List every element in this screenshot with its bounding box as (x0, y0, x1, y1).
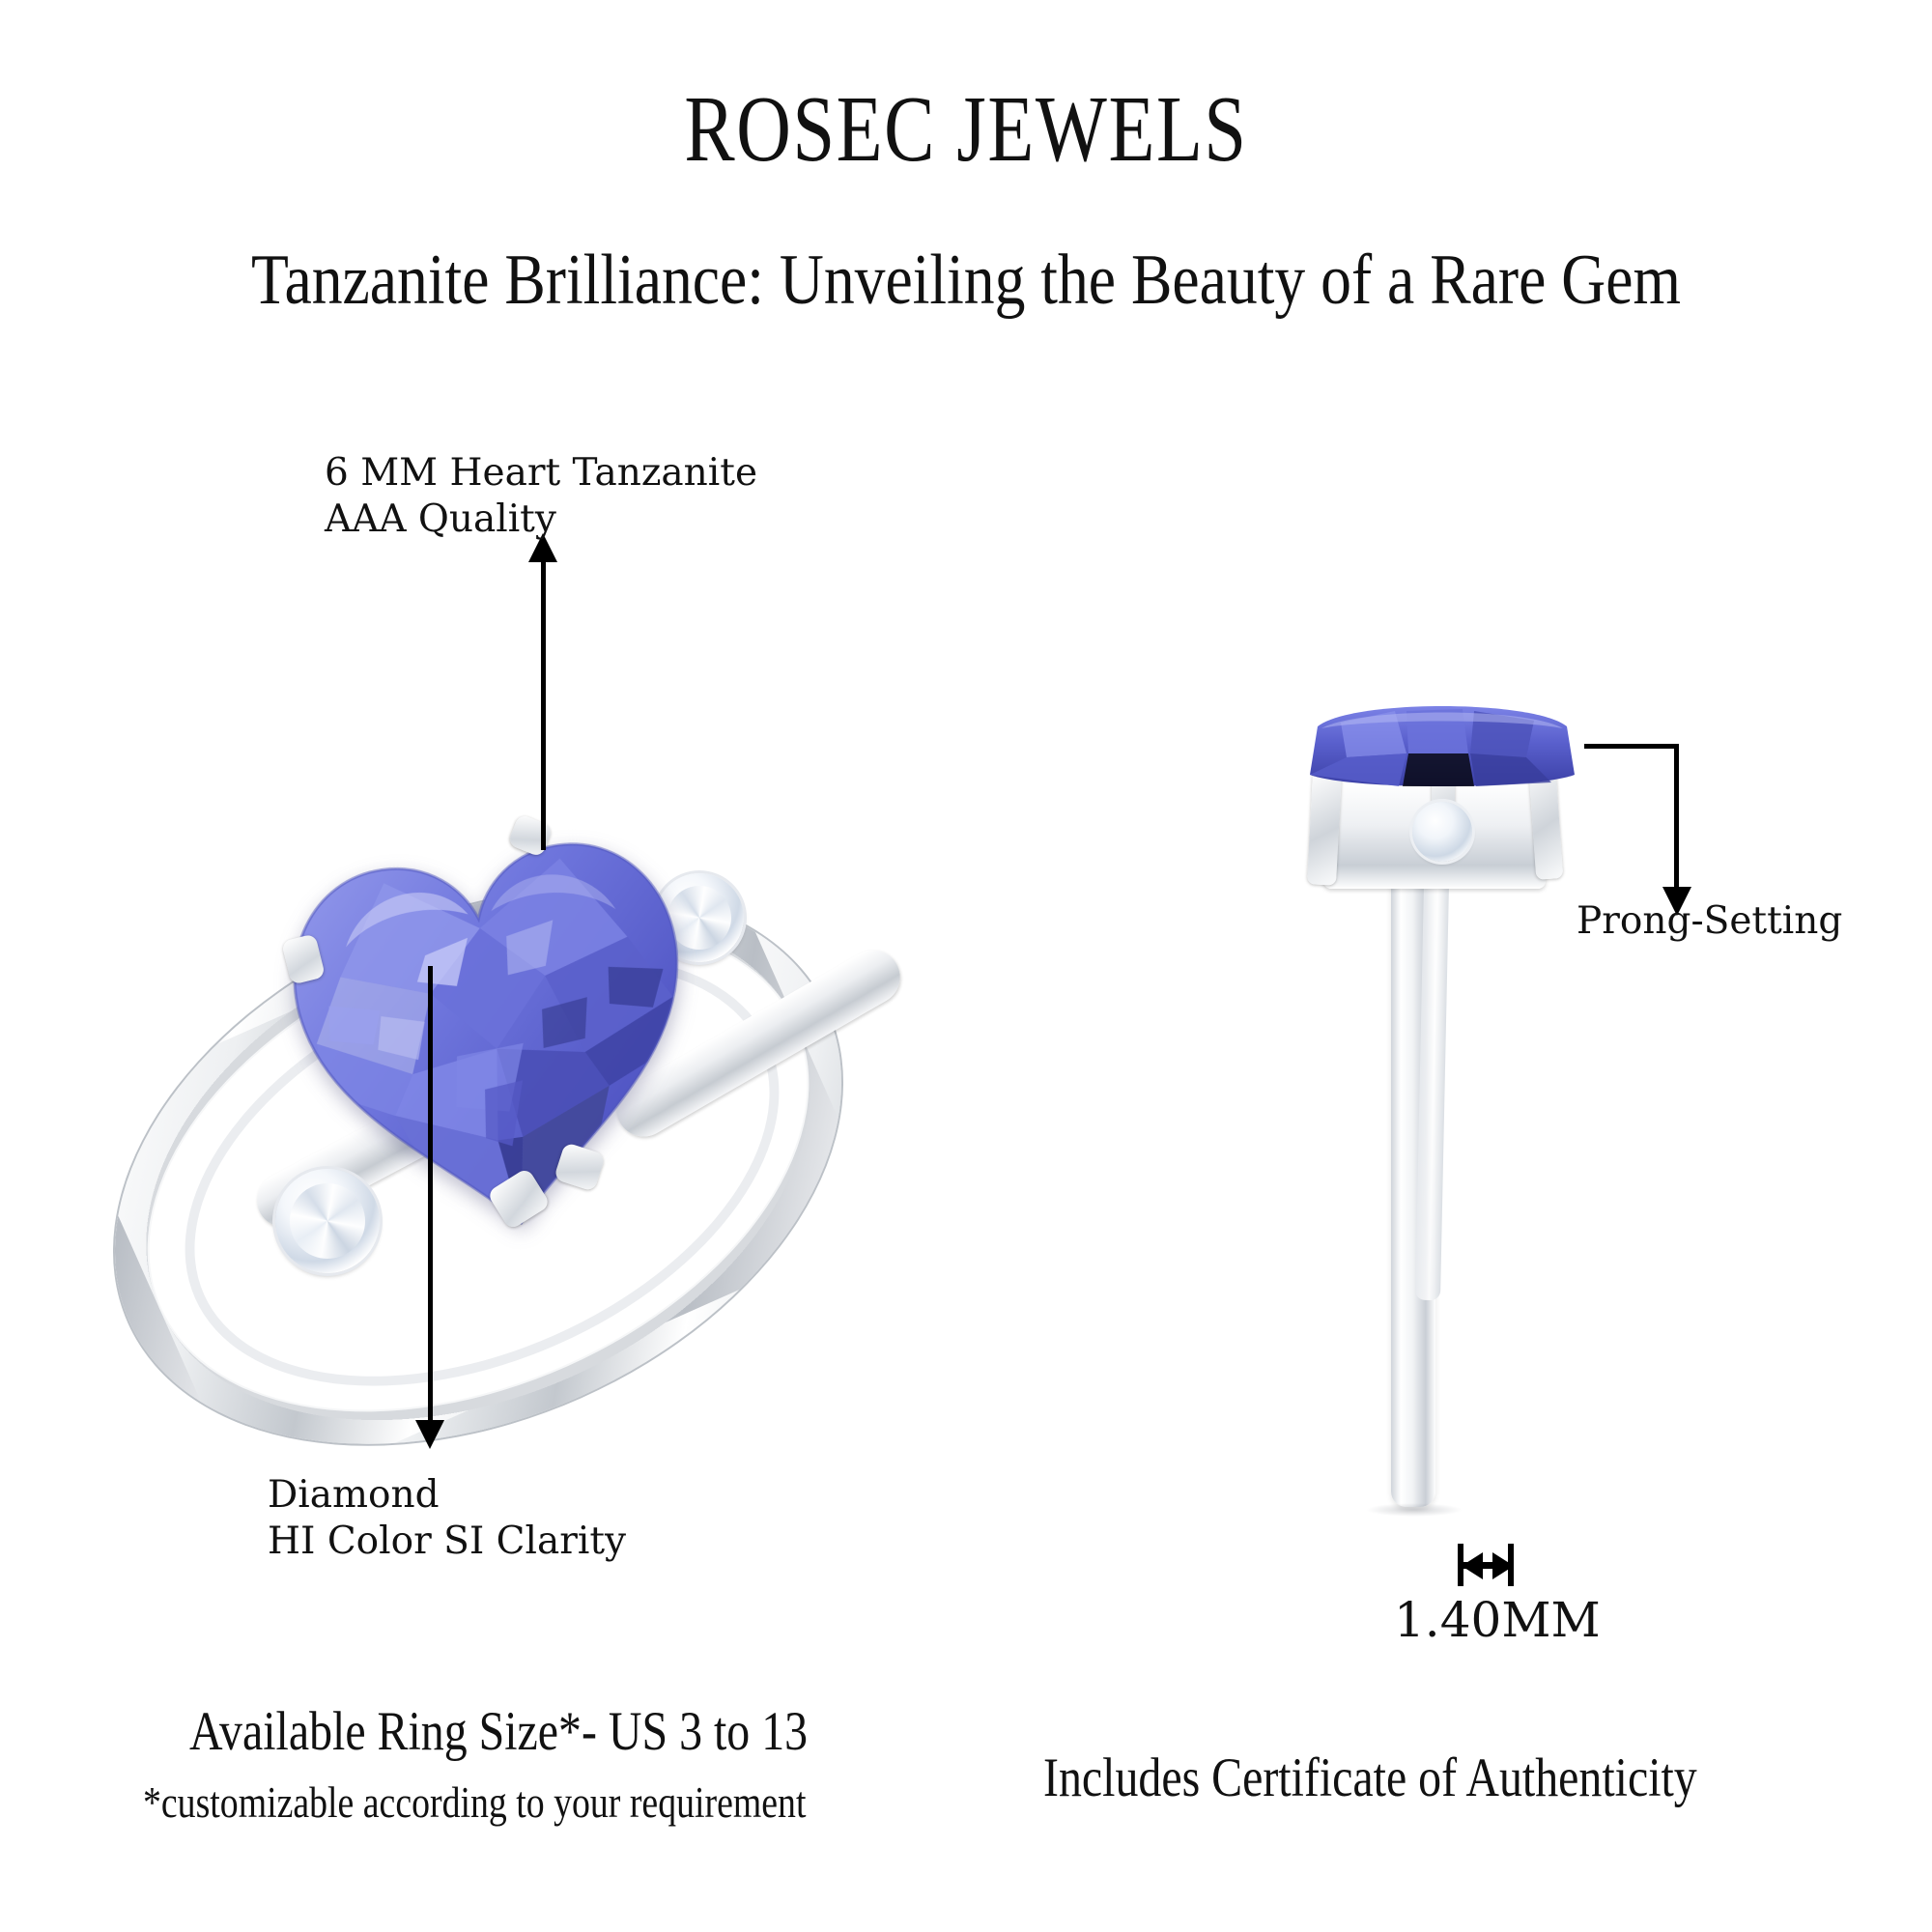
annotation-prong-setting-label: Prong-Setting (1577, 898, 1842, 945)
annotation-diamond-line2: HI Color SI Clarity (268, 1519, 626, 1565)
ring-side-ground-shadow (1366, 1503, 1463, 1517)
annotation-gemstone-line1: 6 MM Heart Tanzanite (325, 450, 757, 497)
dimension-arrow-right (1492, 1552, 1514, 1579)
side-diamond-left (275, 1169, 380, 1273)
side-view-accent-diamond (1412, 802, 1472, 862)
leader-line-prong-vertical (1674, 744, 1679, 889)
infographic-canvas: ROSEC JEWELS Tanzanite Brilliance: Unvei… (0, 0, 1932, 1932)
annotation-diamond: Diamond HI Color SI Clarity (268, 1472, 626, 1564)
leader-arrowhead-diamond (415, 1420, 444, 1449)
leader-line-gemstone (541, 560, 546, 850)
ring-top-view-illustration (97, 792, 1014, 1488)
annotation-gemstone: 6 MM Heart Tanzanite AAA Quality (325, 450, 757, 542)
ring-side-view-illustration (1285, 667, 1690, 1517)
page-subtitle: Tanzanite Brilliance: Unveiling the Beau… (135, 240, 1797, 322)
leader-line-diamond (428, 966, 433, 1420)
footer-ring-size: Available Ring Size*- US 3 to 13 (189, 1700, 808, 1763)
leader-line-prong-horizontal (1584, 744, 1679, 749)
annotation-diamond-line1: Diamond (268, 1472, 626, 1519)
dimension-arrow-left (1462, 1552, 1483, 1579)
annotation-prong-setting: Prong-Setting (1577, 898, 1842, 945)
brand-title: ROSEC JEWELS (193, 75, 1739, 184)
dimension-label-band-width: 1.40MM (1394, 1592, 1601, 1648)
side-gemstone-tanzanite (1302, 694, 1582, 800)
annotation-gemstone-line2: AAA Quality (325, 497, 757, 543)
footer-ring-size-note: *customizable according to your requirem… (143, 1777, 806, 1828)
footer-certificate: Includes Certificate of Authenticity (1043, 1747, 1697, 1809)
